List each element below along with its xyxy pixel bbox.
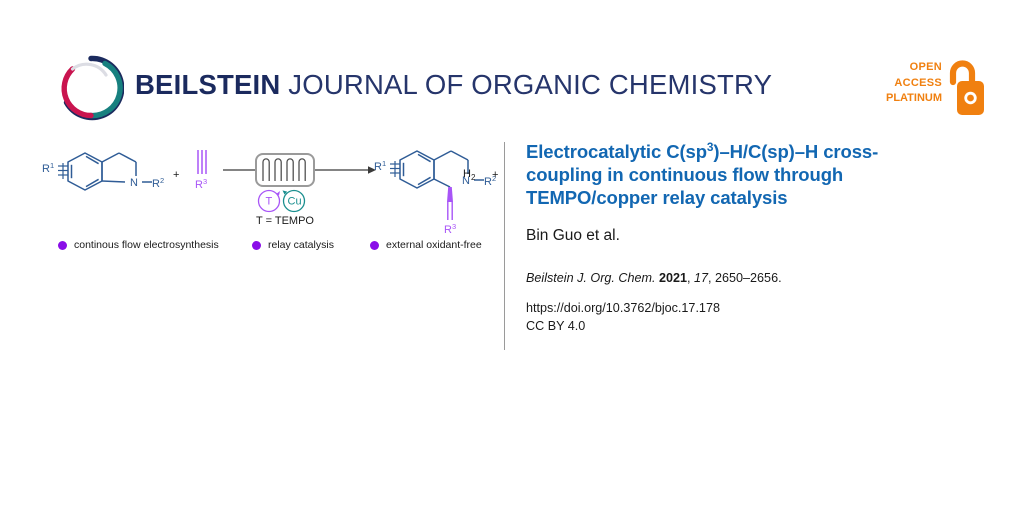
citation-year: 2021 [659,271,687,285]
bullet-dot-icon [58,241,67,250]
catalyst-label-t: T [266,196,273,208]
feature-bullet-label: continous flow electrosynthesis [74,239,219,251]
article-title-part1: Electrocatalytic C(sp [526,141,707,162]
bullet-dot-icon [252,241,261,250]
open-access-badge: OPEN ACCESS PLATINUM [880,58,985,120]
feature-bullet-oxidant-free: external oxidant-free [370,239,482,251]
open-access-line-platinum: PLATINUM [886,91,942,107]
article-license: CC BY 4.0 [526,318,956,336]
citation-pages: 2650–2656. [715,271,782,285]
article-info-panel: Electrocatalytic C(sp3)–H/C(sp)–H cross-… [526,140,956,335]
article-authors: Bin Guo et al. [526,226,956,245]
article-doi-link[interactable]: https://doi.org/10.3762/bjoc.17.178 [526,300,956,318]
open-access-line-open: OPEN [886,60,942,76]
article-title[interactable]: Electrocatalytic C(sp3)–H/C(sp)–H cross-… [526,140,938,209]
article-doi-license-block: https://doi.org/10.3762/bjoc.17.178 CC B… [526,300,956,335]
bullet-dot-icon [370,241,379,250]
feature-bullet-continuous-flow: continous flow electrosynthesis [58,239,219,251]
citation-volume: 17 [694,271,708,285]
open-access-line-access: ACCESS [886,76,942,92]
scheme-plus-sign: + [173,169,179,181]
feature-bullet-label: relay catalysis [268,239,334,251]
panel-divider [504,142,505,350]
wordmark-beilstein: BEILSTEIN [135,69,280,100]
citation-comma-1: , [687,271,691,285]
masthead: BEILSTEIN JOURNAL OF ORGANIC CHEMISTRY O… [0,0,1024,128]
journal-wordmark: BEILSTEIN JOURNAL OF ORGANIC CHEMISTRY [135,71,772,99]
byproduct-dihydrogen: H2 [463,168,475,182]
citation-comma-2: , [708,271,712,285]
reactant-label-r1: R1 [42,161,54,175]
open-access-label: OPEN ACCESS PLATINUM [886,60,942,107]
tempo-caption: T = TEMPO [256,215,314,227]
reactant-label-r3: R3 [195,177,207,191]
feature-bullet-relay-catalysis: relay catalysis [252,239,334,251]
feature-bullet-list: continous flow electrosynthesis relay ca… [58,239,498,259]
reactant-label-r2: R2 [152,176,164,190]
beilstein-spiral-logo [58,55,124,121]
graphical-abstract-scheme: R1 N R2 + R3 T [30,132,500,242]
catalyst-label-cu: Cu [288,196,302,208]
citation-journal: Beilstein J. Org. Chem. [526,271,655,285]
article-citation: Beilstein J. Org. Chem. 2021, 17, 2650–2… [526,270,956,286]
product-label-r3: R3 [444,222,456,236]
flow-reactor-icon [256,154,314,186]
reactant-label-n: N [130,177,138,189]
product-alkyne-bond [448,202,452,220]
product-label-r1: R1 [374,159,386,173]
reactant-alkyne [198,150,206,174]
product-plus-sign: + [492,169,498,181]
feature-bullet-label: external oxidant-free [386,239,482,251]
product-stereo-wedge [447,187,453,202]
open-access-unlocked-padlock-icon [945,60,985,116]
wordmark-journal-of-organic-chemistry: JOURNAL OF ORGANIC CHEMISTRY [288,69,772,100]
